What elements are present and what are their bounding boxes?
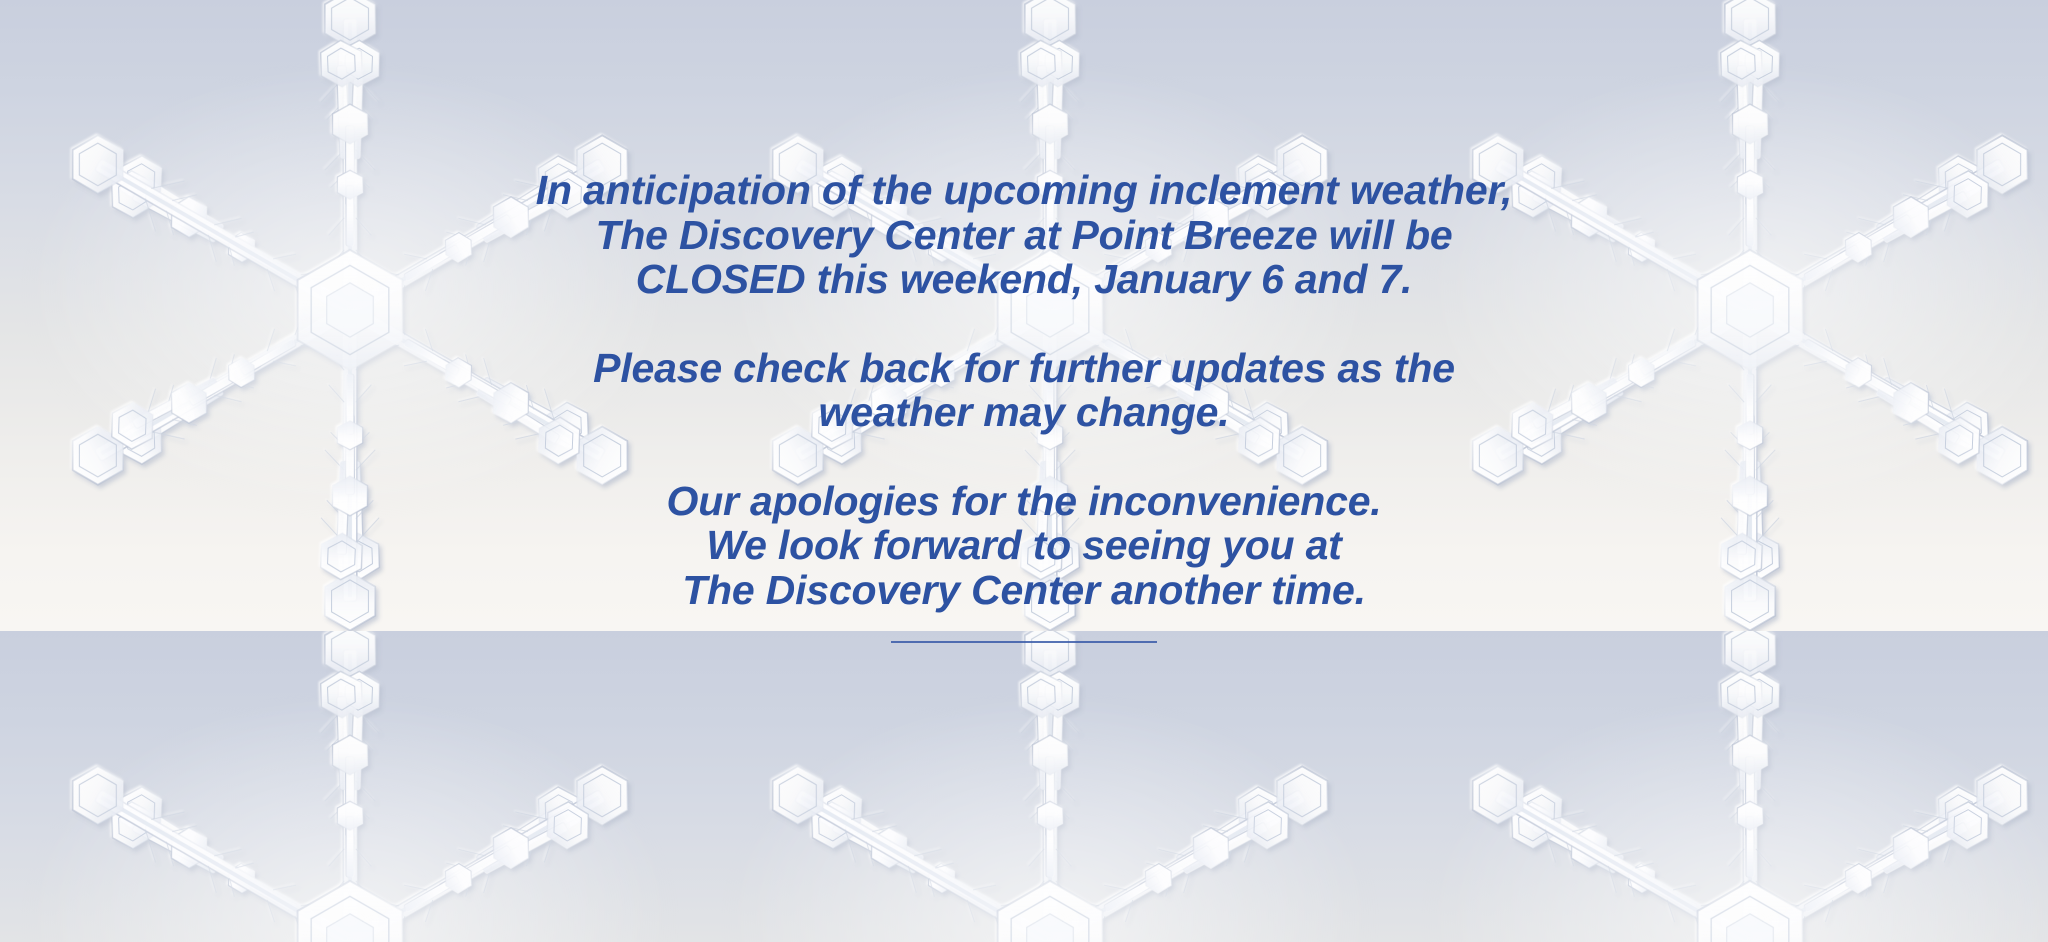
apology-notice-line-1: Our apologies for the inconvenience. xyxy=(0,479,2048,524)
apology-notice-paragraph: Our apologies for the inconvenience. We … xyxy=(0,479,2048,613)
announcement-text: In anticipation of the upcoming inclemen… xyxy=(0,168,2048,672)
paragraph-spacer xyxy=(0,302,2048,346)
closure-notice-paragraph: In anticipation of the upcoming inclemen… xyxy=(0,168,2048,302)
closure-notice-line-1: In anticipation of the upcoming inclemen… xyxy=(0,168,2048,213)
closure-notice-line-3: CLOSED this weekend, January 6 and 7. xyxy=(0,257,2048,302)
divider-rule-wrapper xyxy=(0,620,2048,672)
background-tile xyxy=(1400,631,2048,942)
apology-notice-line-2: We look forward to seeing you at xyxy=(0,523,2048,568)
closure-announcement-banner: In anticipation of the upcoming inclemen… xyxy=(0,0,2048,942)
apology-notice-line-3: The Discovery Center another time. xyxy=(0,568,2048,613)
snowflake-icon xyxy=(20,631,680,942)
divider-rule xyxy=(891,641,1157,643)
snowflake-icon xyxy=(720,631,1380,942)
updates-notice-line-2: weather may change. xyxy=(0,390,2048,435)
background-tile xyxy=(700,631,1400,942)
background-tile xyxy=(0,631,700,942)
closure-notice-line-2: The Discovery Center at Point Breeze wil… xyxy=(0,213,2048,258)
paragraph-spacer xyxy=(0,435,2048,479)
updates-notice-line-1: Please check back for further updates as… xyxy=(0,346,2048,391)
snowflake-icon xyxy=(1420,631,2048,942)
updates-notice-paragraph: Please check back for further updates as… xyxy=(0,346,2048,435)
